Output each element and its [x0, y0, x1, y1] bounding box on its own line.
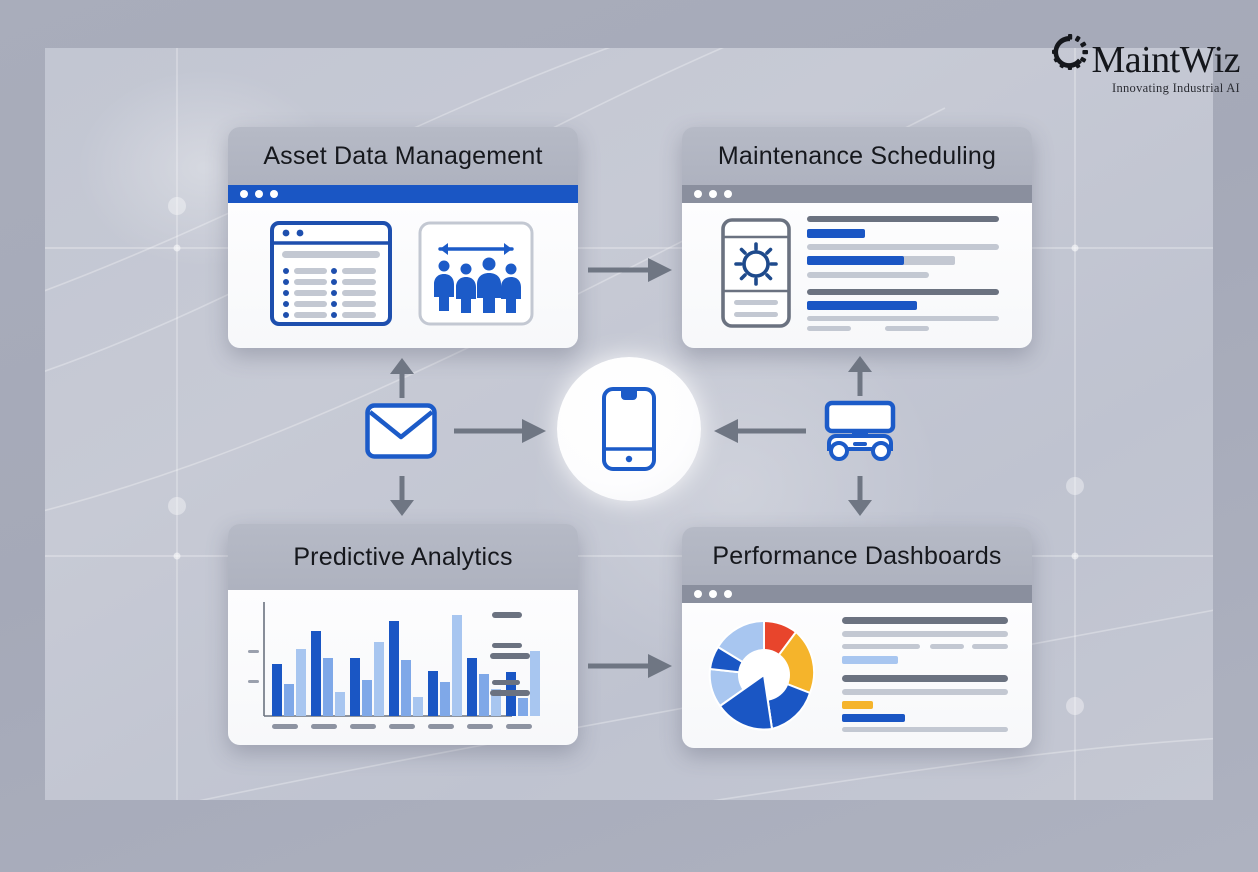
arrow-vehicle-to-hub	[710, 413, 808, 449]
envelope-icon	[365, 403, 437, 459]
arrow-envelope-to-hub	[452, 413, 550, 449]
window-dot-icon	[724, 190, 732, 198]
window-dot-icon	[270, 190, 278, 198]
card-body-predictive-analytics	[228, 590, 578, 745]
card-performance-dashboards[interactable]: Performance Dashboards	[682, 527, 1032, 748]
card-title-maintenance-scheduling: Maintenance Scheduling	[718, 142, 996, 171]
card-title-asset-data-management: Asset Data Management	[263, 142, 542, 171]
window-dot-icon	[724, 590, 732, 598]
people-group-icon	[418, 221, 534, 326]
list-window-icon	[270, 221, 392, 326]
titlebar-dots-performance-dashboards	[682, 585, 1032, 603]
brand-name: MaintWiz	[1091, 42, 1240, 78]
card-header-maintenance-scheduling: Maintenance Scheduling	[682, 127, 1032, 185]
card-body-performance-dashboards	[682, 603, 1032, 748]
window-dot-icon	[709, 190, 717, 198]
donut-chart-icon	[702, 613, 826, 737]
vehicle-icon	[822, 400, 898, 462]
window-dot-icon	[255, 190, 263, 198]
legend-icon	[482, 608, 552, 708]
vehicle-node[interactable]	[822, 400, 898, 462]
arrow-vehicle-to-ms	[845, 356, 875, 398]
arrow-adm-to-ms	[586, 252, 676, 288]
schedule-lines-icon	[807, 213, 1007, 333]
central-hub[interactable]	[557, 357, 701, 501]
arrow-envelope-to-adm	[387, 358, 417, 400]
gear-c-icon	[1050, 34, 1090, 76]
titlebar-dots-asset-data-management	[228, 185, 578, 203]
window-dot-icon	[694, 190, 702, 198]
dashboard-lines-icon	[842, 615, 1014, 735]
window-dot-icon	[694, 590, 702, 598]
card-header-asset-data-management: Asset Data Management	[228, 127, 578, 185]
card-body-maintenance-scheduling	[682, 203, 1032, 348]
card-predictive-analytics[interactable]: Predictive Analytics	[228, 524, 578, 745]
arrow-envelope-to-pa	[387, 474, 417, 516]
envelope-node[interactable]	[365, 403, 437, 459]
card-title-predictive-analytics: Predictive Analytics	[293, 543, 512, 572]
card-maintenance-scheduling[interactable]: Maintenance Scheduling	[682, 127, 1032, 348]
brand-logo[interactable]: MaintWiz Innovating Industrial AI	[1050, 34, 1240, 96]
diagram-canvas: Asset Data Management	[0, 0, 1258, 872]
card-asset-data-management[interactable]: Asset Data Management	[228, 127, 578, 348]
tablet-gear-icon	[720, 217, 792, 329]
titlebar-dots-maintenance-scheduling	[682, 185, 1032, 203]
card-title-performance-dashboards: Performance Dashboards	[712, 542, 1001, 571]
arrow-pa-to-pd	[586, 648, 676, 684]
window-dot-icon	[240, 190, 248, 198]
window-dot-icon	[709, 590, 717, 598]
card-header-performance-dashboards: Performance Dashboards	[682, 527, 1032, 585]
arrow-vehicle-to-pd	[845, 474, 875, 516]
card-header-predictive-analytics: Predictive Analytics	[228, 524, 578, 590]
brand-tagline: Innovating Industrial AI	[1050, 81, 1240, 96]
smartphone-icon	[601, 386, 657, 472]
card-body-asset-data-management	[228, 203, 578, 348]
